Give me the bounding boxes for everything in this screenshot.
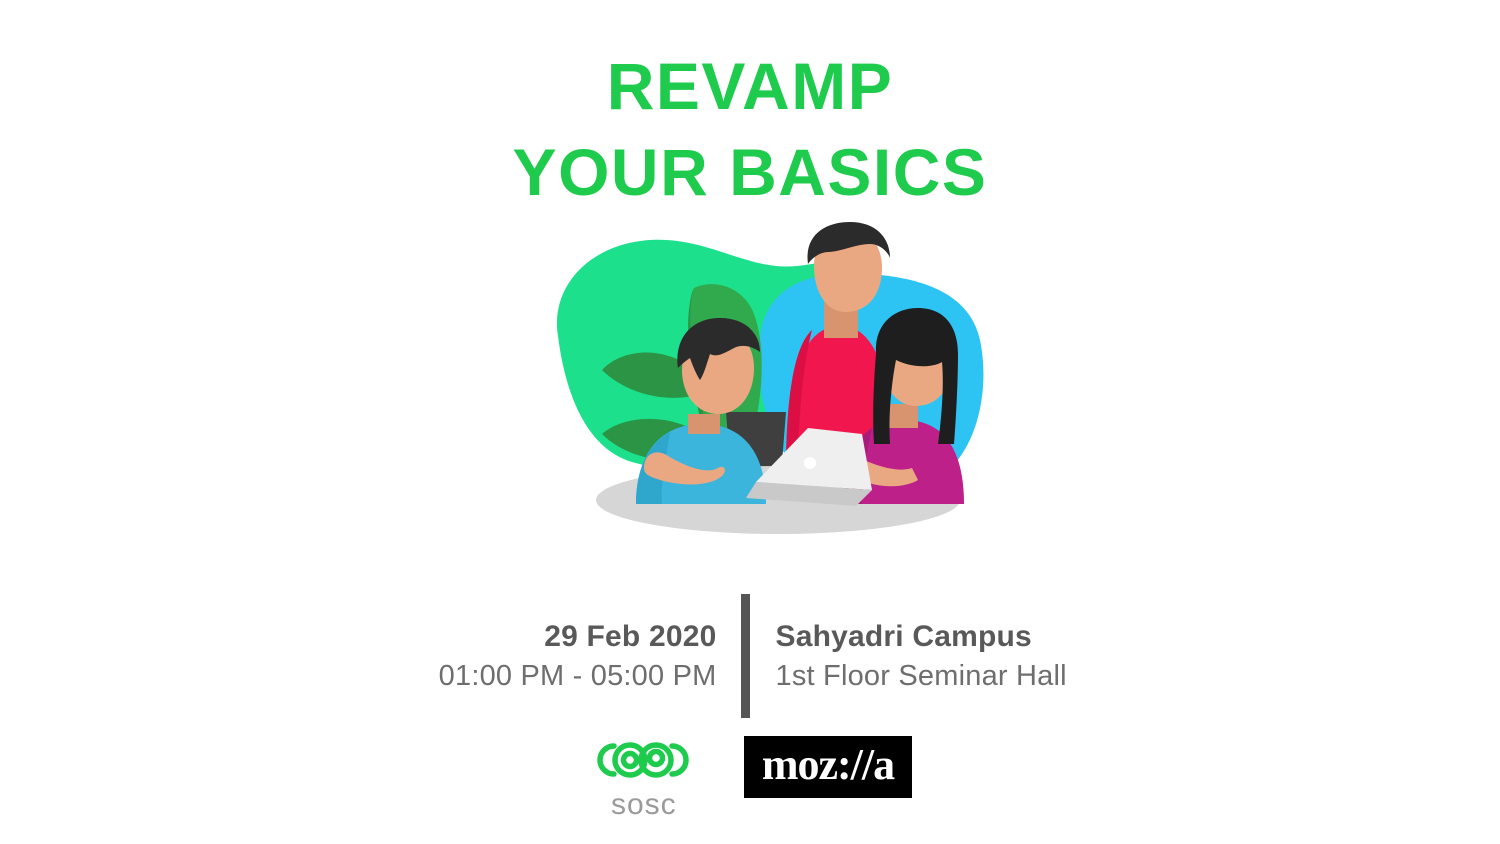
event-venue: Sahyadri Campus — [776, 617, 1110, 657]
event-datetime-column: 29 Feb 2020 01:00 PM - 05:00 PM — [391, 594, 741, 718]
mozilla-logo: moz://a — [744, 736, 912, 798]
sosc-rings-icon — [594, 736, 694, 784]
secondary-device — [738, 424, 792, 470]
title-line-1: REVAMP — [0, 44, 1500, 130]
title-line-2: YOUR BASICS — [0, 130, 1500, 216]
info-divider — [741, 594, 750, 718]
sosc-logo: sosc — [588, 736, 700, 820]
event-room: 1st Floor Seminar Hall — [776, 657, 1110, 695]
event-time: 01:00 PM - 05:00 PM — [391, 657, 717, 695]
logo-row: sosc moz://a — [0, 736, 1500, 820]
sosc-wordmark: sosc — [611, 790, 677, 820]
event-info: 29 Feb 2020 01:00 PM - 05:00 PM Sahyadri… — [0, 594, 1500, 718]
page-title: REVAMP YOUR BASICS — [0, 44, 1500, 216]
event-venue-column: Sahyadri Campus 1st Floor Seminar Hall — [750, 594, 1110, 718]
event-date: 29 Feb 2020 — [391, 617, 717, 657]
mozilla-wordmark: moz://a — [762, 743, 894, 787]
three-people-with-laptop-illustration — [540, 218, 1000, 548]
